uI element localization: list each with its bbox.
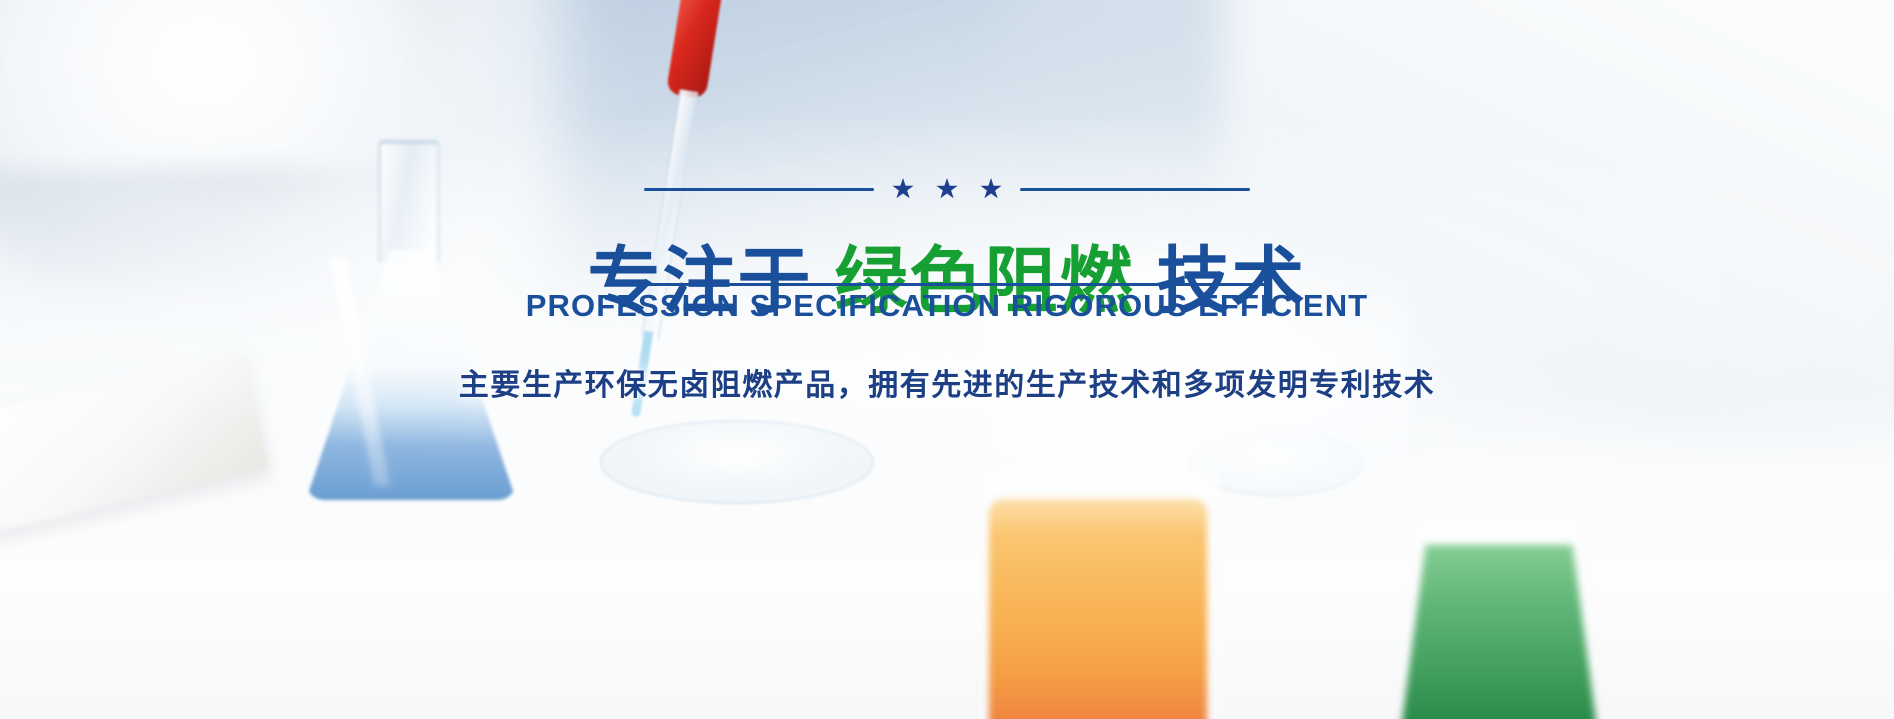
divider-under-headline	[623, 283, 1271, 286]
star-icon	[980, 178, 1002, 200]
divider-right	[1020, 188, 1250, 191]
petri-dish	[600, 420, 874, 504]
pipette-bulb	[666, 0, 724, 99]
beaker-orange-glass	[981, 469, 1221, 719]
beaker-orange-icon	[975, 469, 1223, 719]
tagline-chinese: 主要生产环保无卤阻燃产品，拥有先进的生产技术和多项发明专利技术	[0, 360, 1894, 404]
star-icon	[892, 178, 914, 200]
star-icon	[936, 178, 958, 200]
flask-green-glass	[1389, 517, 1609, 719]
hero-banner: 专注于绿色阻燃技术 PROFESSION SPECIFICATION RIGOR…	[0, 0, 1894, 719]
subtitle-english: PROFESSION SPECIFICATION RIGOROUS EFFICI…	[0, 288, 1894, 324]
star-group	[892, 178, 1002, 200]
flask-green-icon	[1385, 509, 1615, 719]
divider-left	[644, 188, 874, 191]
flask-neck	[378, 140, 440, 262]
decorative-rule-row	[0, 178, 1894, 200]
